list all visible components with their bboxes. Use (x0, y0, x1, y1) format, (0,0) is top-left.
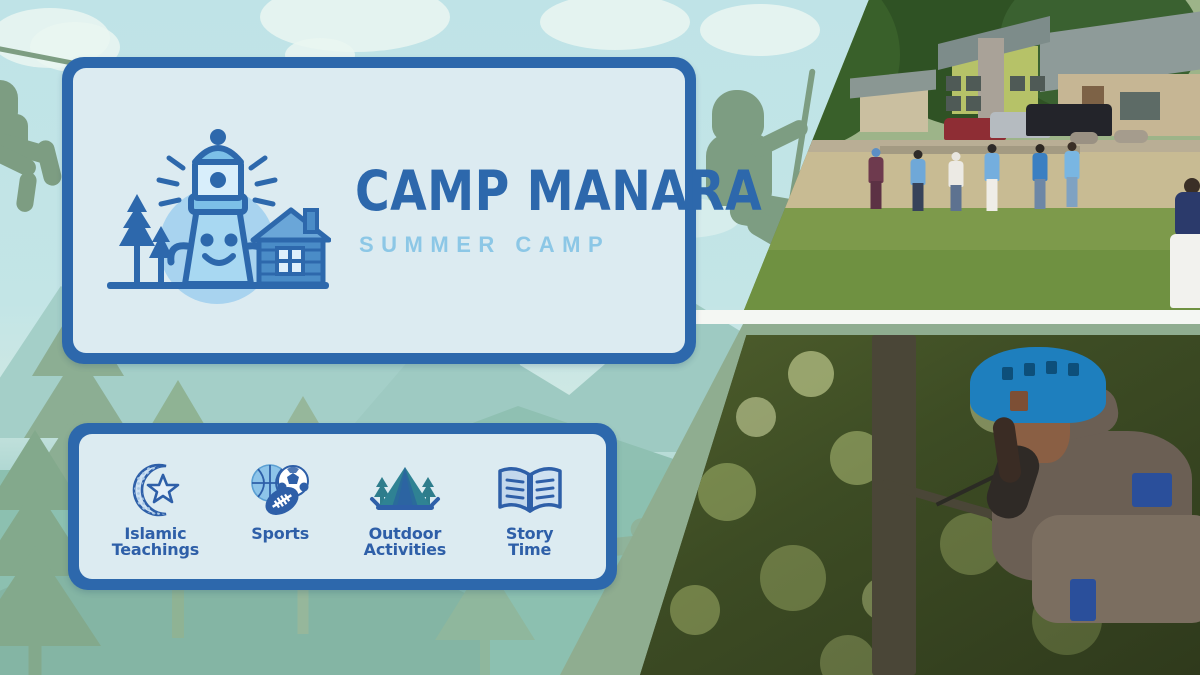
page-title: CAMP MANARA (355, 164, 762, 219)
feature-card: Islamic Teachings (68, 423, 617, 590)
photo-divider (680, 310, 1200, 324)
open-book-icon (495, 463, 565, 519)
camping-tent-icon (368, 461, 442, 519)
feature-item-story-time[interactable]: Story Time (471, 455, 589, 559)
feature-item-sports[interactable]: Sports (221, 455, 339, 542)
feature-label-line2: Time (506, 542, 554, 558)
brand-lockup: CAMP MANARA SUMMER CAMP (73, 118, 828, 304)
crescent-moon-star-icon (126, 461, 184, 519)
logo-card: CAMP MANARA SUMMER CAMP (62, 57, 696, 364)
lighthouse-mascot-icon (99, 118, 331, 304)
feature-item-outdoor-activities[interactable]: Outdoor Activities (346, 455, 464, 559)
feature-item-islamic-teachings[interactable]: Islamic Teachings (96, 455, 214, 559)
poster-canvas: CAMP MANARA SUMMER CAMP (0, 0, 1200, 675)
feature-label-line1: Sports (251, 526, 309, 542)
sports-balls-icon (249, 461, 311, 519)
brand-subtitle: SUMMER CAMP (359, 232, 828, 258)
feature-list: Islamic Teachings (79, 455, 606, 559)
feature-label-line2: Teachings (112, 542, 199, 558)
feature-label-line2: Activities (364, 542, 446, 558)
